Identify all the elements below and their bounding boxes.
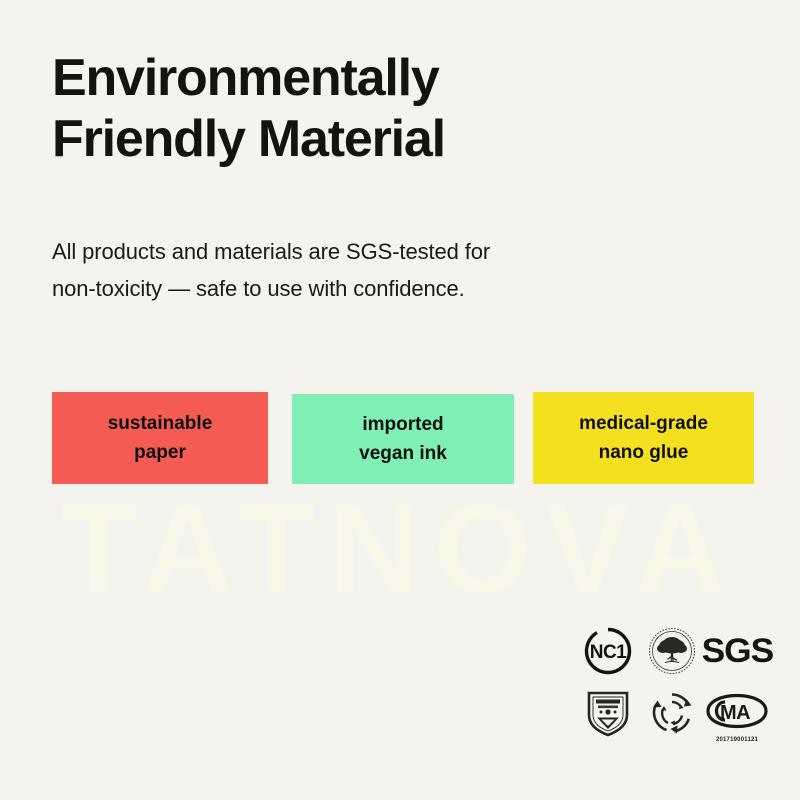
- cma-icon: MA 201719001121: [703, 682, 771, 744]
- material-chip-group: sustainable paper imported vegan ink med…: [52, 392, 762, 488]
- page-title: Environmentally Friendly Material: [52, 48, 672, 170]
- tree-emblem-icon: [641, 620, 703, 682]
- nc1-icon: NC1: [575, 620, 641, 682]
- material-chip-line-1: medical-grade: [579, 409, 708, 438]
- svg-text:NC1: NC1: [590, 642, 627, 663]
- material-chip-line-2: paper: [134, 438, 186, 467]
- recycling-icon: [641, 682, 703, 744]
- sgs-icon: SGS: [703, 620, 771, 682]
- material-chip-sustainable-paper: sustainable paper: [52, 392, 268, 484]
- cma-certificate-number: 201719001121: [716, 737, 758, 743]
- page-subtitle: All products and materials are SGS-teste…: [52, 234, 652, 308]
- material-chip-line-1: imported: [362, 410, 443, 439]
- poster-canvas: TATNOVA Environmentally Friendly Materia…: [0, 0, 800, 800]
- material-chip-line-2: vegan ink: [359, 439, 447, 468]
- certification-badge-grid: NC1 SGS: [575, 620, 771, 748]
- material-chip-medical-grade-nano-glue: medical-grade nano glue: [533, 392, 754, 484]
- shield-icon: [575, 682, 641, 744]
- brand-watermark: TATNOVA: [0, 486, 800, 612]
- material-chip-line-1: sustainable: [108, 409, 213, 438]
- sgs-label: SGS: [701, 632, 773, 671]
- material-chip-line-2: nano glue: [599, 438, 689, 467]
- material-chip-imported-vegan-ink: imported vegan ink: [292, 394, 514, 484]
